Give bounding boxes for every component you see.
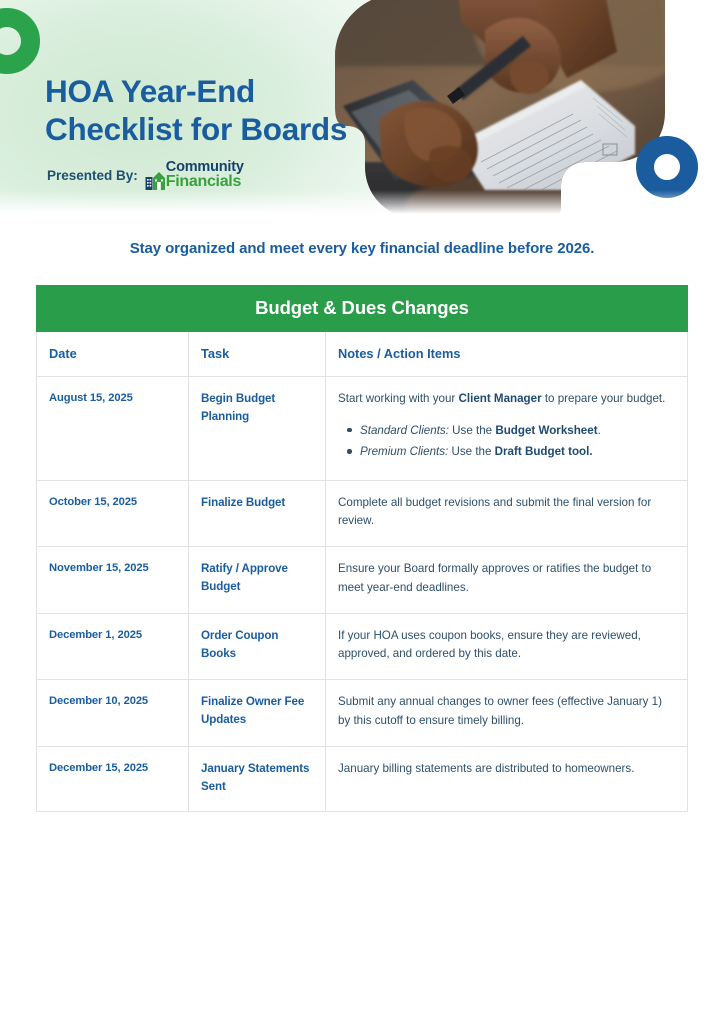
presented-by-row: Presented By: Community Financials — [47, 160, 244, 191]
cell-notes: Ensure your Board formally approves or r… — [326, 547, 688, 614]
note-bold-client-manager: Client Manager — [459, 392, 542, 405]
green-ring-decoration — [0, 8, 40, 74]
cell-notes: Submit any annual changes to owner fees … — [326, 680, 688, 747]
cell-notes: If your HOA uses coupon books, ensure th… — [326, 613, 688, 680]
header-photo — [335, 0, 665, 216]
table-row: December 10, 2025 Finalize Owner Fee Upd… — [37, 680, 688, 747]
cell-date: December 10, 2025 — [37, 680, 189, 747]
bullet-mid: Use the — [448, 445, 494, 458]
checklist-table: Budget & Dues Changes Date Task Notes / … — [36, 285, 688, 812]
blue-ring-decoration — [636, 136, 698, 198]
presented-by-label: Presented By: — [47, 168, 138, 183]
cell-task: January Statements Sent — [189, 746, 326, 811]
subheadline: Stay organized and meet every key financ… — [0, 240, 724, 257]
community-financials-logo: Community Financials — [145, 160, 244, 191]
column-header-notes: Notes / Action Items — [326, 332, 688, 377]
cell-task: Finalize Budget — [189, 480, 326, 547]
cell-task: Finalize Owner Fee Updates — [189, 680, 326, 747]
checklist-table-body: August 15, 2025 Begin Budget Planning St… — [37, 377, 688, 812]
note-bullet-list: Standard Clients: Use the Budget Workshe… — [338, 422, 675, 461]
section-title: Budget & Dues Changes — [37, 286, 688, 332]
hands-writing-on-checklist-photo — [335, 0, 665, 216]
cell-date: October 15, 2025 — [37, 480, 189, 547]
house-building-icon — [145, 170, 165, 191]
note-paragraph: Start working with your Client Manager t… — [338, 390, 675, 409]
cell-date: December 15, 2025 — [37, 746, 189, 811]
bullet-mid: Use the — [449, 424, 495, 437]
bullet-label-standard: Standard Clients: — [360, 424, 449, 437]
logo-word-financials: Financials — [166, 174, 244, 190]
cell-notes: Complete all budget revisions and submit… — [326, 480, 688, 547]
cell-task: Order Coupon Books — [189, 613, 326, 680]
table-row: October 15, 2025 Finalize Budget Complet… — [37, 480, 688, 547]
page-title: HOA Year-End Checklist for Boards — [45, 72, 347, 148]
note-lead: Start working with your — [338, 392, 459, 405]
list-item: Premium Clients: Use the Draft Budget to… — [360, 443, 675, 460]
cell-task: Ratify / Approve Budget — [189, 547, 326, 614]
cell-notes: Start working with your Client Manager t… — [326, 377, 688, 481]
checklist-table-wrap: Budget & Dues Changes Date Task Notes / … — [36, 285, 688, 812]
banner-bottom-fade — [0, 190, 724, 216]
cell-task: Begin Budget Planning — [189, 377, 326, 481]
table-row: December 1, 2025 Order Coupon Books If y… — [37, 613, 688, 680]
table-row: November 15, 2025 Ratify / Approve Budge… — [37, 547, 688, 614]
note-tail: to prepare your budget. — [542, 392, 666, 405]
page-title-block: HOA Year-End Checklist for Boards — [45, 72, 347, 148]
column-header-task: Task — [189, 332, 326, 377]
cell-date: August 15, 2025 — [37, 377, 189, 481]
list-item: Standard Clients: Use the Budget Workshe… — [360, 422, 675, 439]
logo-word-community: Community — [166, 160, 244, 174]
table-row: August 15, 2025 Begin Budget Planning St… — [37, 377, 688, 481]
column-header-date: Date — [37, 332, 189, 377]
bullet-bold-budget-worksheet: Budget Worksheet — [495, 424, 597, 437]
table-column-header-row: Date Task Notes / Action Items — [37, 332, 688, 377]
page-header-banner: HOA Year-End Checklist for Boards Presen… — [0, 0, 724, 216]
table-section-title-row: Budget & Dues Changes — [37, 286, 688, 332]
bullet-bold-draft-budget-tool: Draft Budget tool. — [495, 445, 593, 458]
cell-notes: January billing statements are distribut… — [326, 746, 688, 811]
table-row: December 15, 2025 January Statements Sen… — [37, 746, 688, 811]
bullet-label-premium: Premium Clients: — [360, 445, 448, 458]
cell-date: December 1, 2025 — [37, 613, 189, 680]
bullet-end: . — [598, 424, 601, 437]
cell-date: November 15, 2025 — [37, 547, 189, 614]
